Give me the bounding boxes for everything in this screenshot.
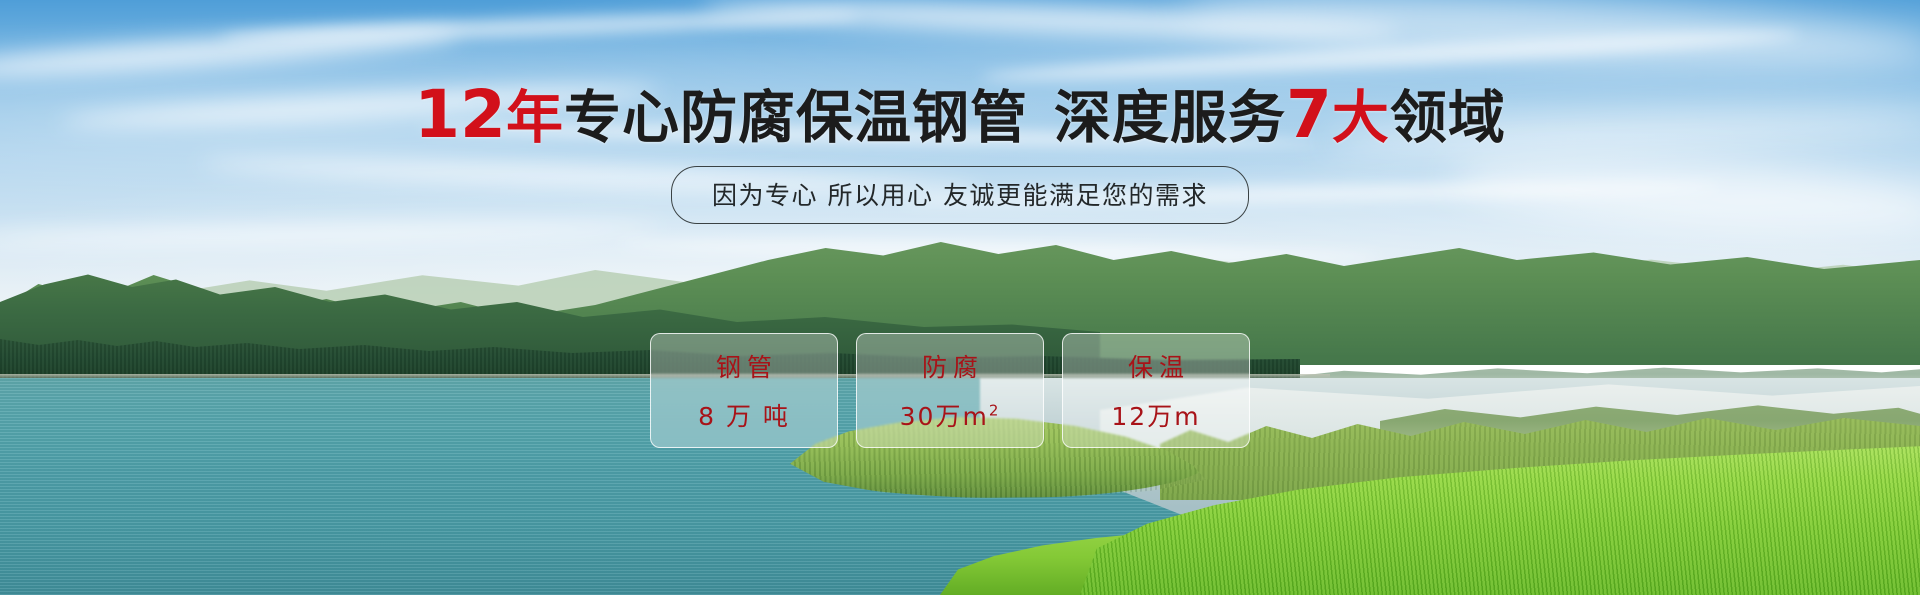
headline-fields-number: 7 — [1286, 76, 1332, 153]
stat-card-title: 防腐 — [916, 348, 984, 384]
stat-card-insulation[interactable]: 保温 12万m — [1062, 333, 1250, 448]
stat-card-value: 8 万 吨 — [698, 397, 790, 433]
headline-main-text: 专心防腐保温钢管 — [564, 85, 1028, 151]
headline-years-unit: 年 — [506, 85, 564, 151]
banner-subtitle-pill: 因为专心 所以用心 友诚更能满足您的需求 — [671, 166, 1249, 224]
headline-fields-text: 领域 — [1390, 85, 1506, 151]
stat-card-value-text: 12万m — [1111, 402, 1200, 431]
hero-banner: 12年专心防腐保温钢管深度服务7大领域 因为专心 所以用心 友诚更能满足您的需求… — [0, 0, 1920, 595]
stat-card-anticorrosion[interactable]: 防腐 30万m2 — [856, 333, 1044, 448]
headline-service-text: 深度服务 — [1054, 85, 1286, 151]
stat-card-value-superscript: 2 — [989, 402, 1001, 420]
stat-card-value-text: 30万m — [900, 402, 989, 431]
stat-card-steel-pipe[interactable]: 钢管 8 万 吨 — [650, 333, 838, 448]
headline-years-number: 12 — [414, 76, 506, 153]
headline-fields-unit: 大 — [1332, 85, 1390, 151]
stat-card-value: 12万m — [1111, 397, 1200, 433]
stat-card-title: 钢管 — [710, 348, 778, 384]
stat-card-value: 30万m2 — [900, 397, 1001, 433]
stat-card-title: 保温 — [1122, 348, 1190, 384]
stat-card-value-text: 8 万 吨 — [698, 402, 790, 431]
banner-headline: 12年专心防腐保温钢管深度服务7大领域 — [0, 82, 1920, 148]
banner-subtitle-wrapper: 因为专心 所以用心 友诚更能满足您的需求 — [0, 166, 1920, 224]
stat-card-group: 钢管 8 万 吨 防腐 30万m2 保温 12万m — [650, 333, 1250, 448]
